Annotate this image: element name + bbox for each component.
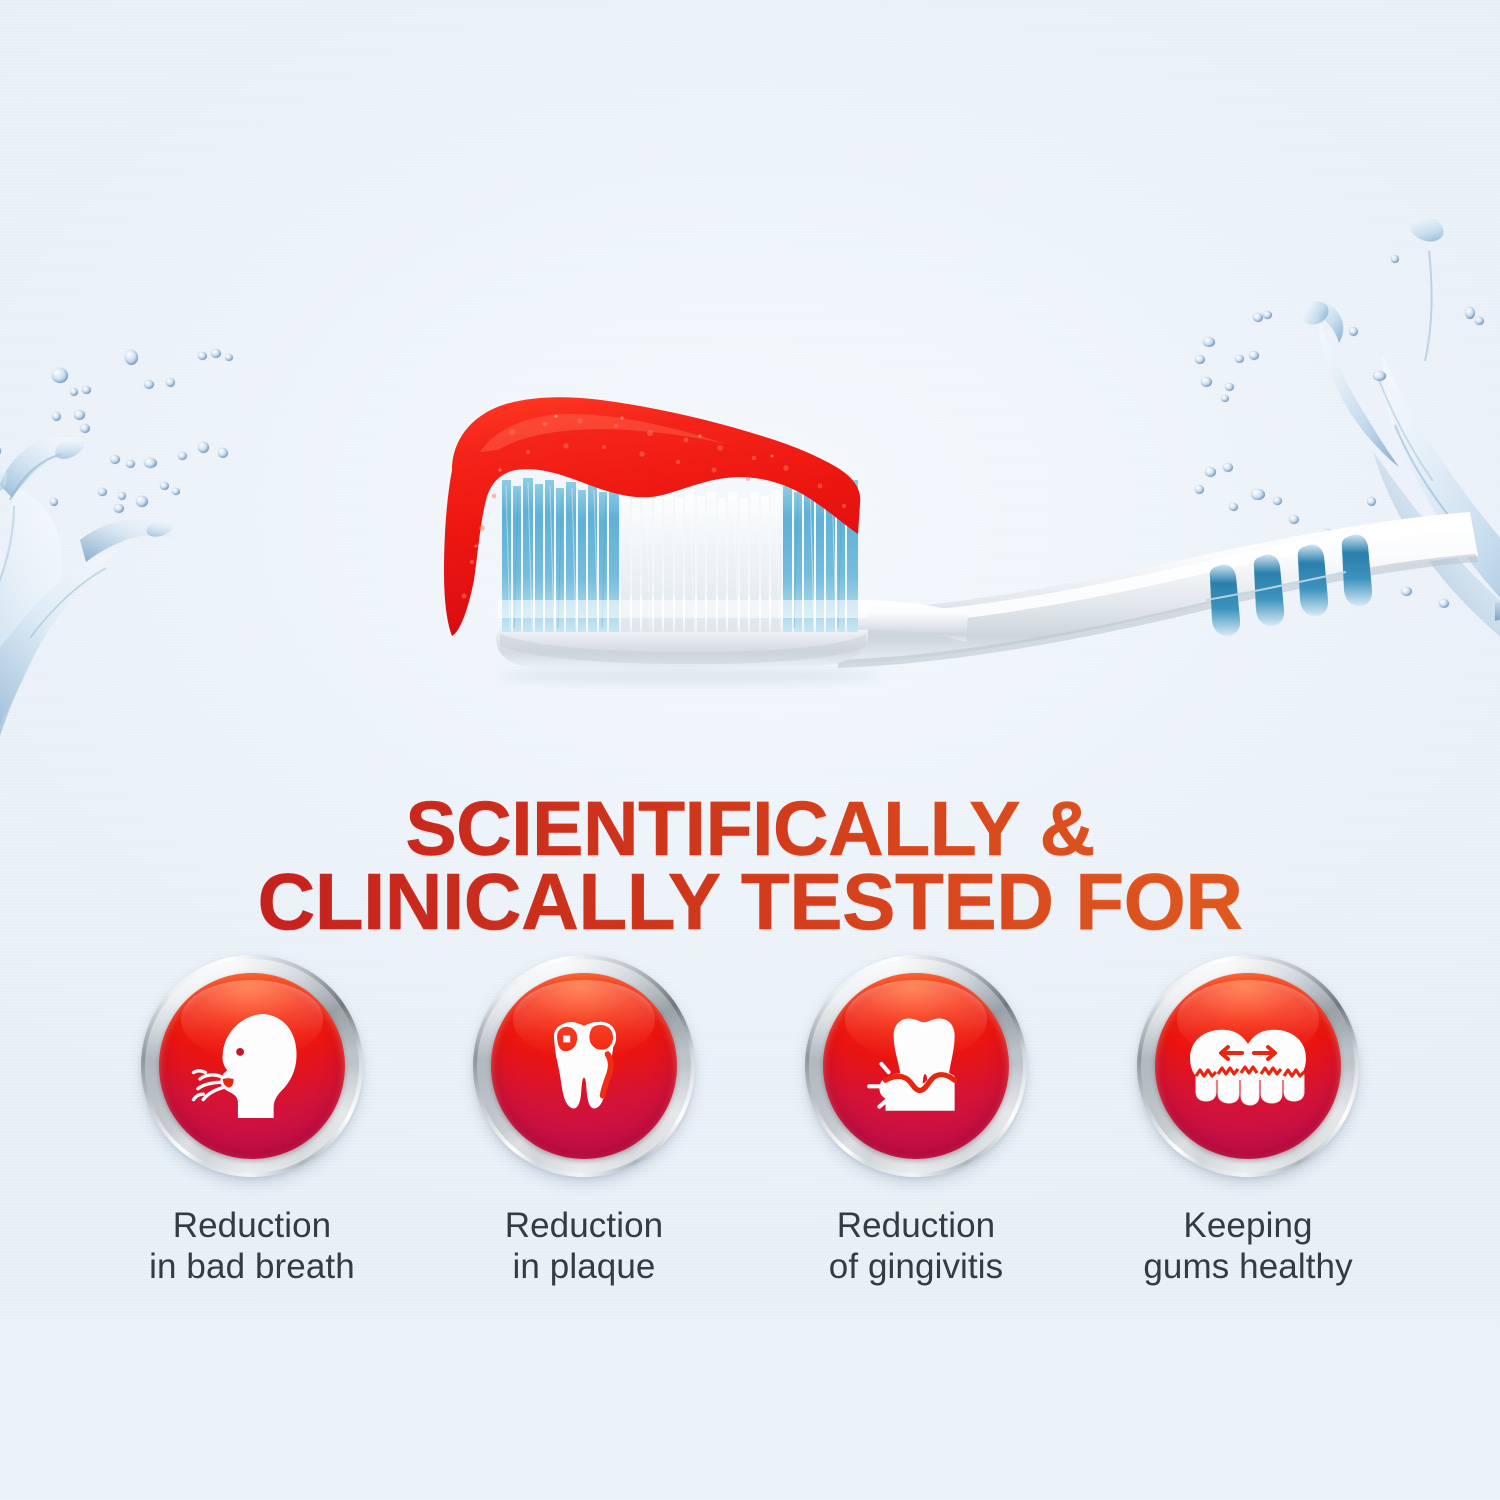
benefit-badge [805,955,1027,1177]
page-headline: SCIENTIFICALLY & CLINICALLY TESTED FOR [0,794,1500,940]
benefits-list: Reduction in bad breath [86,955,1414,1288]
healthy-gums-icon [1155,973,1341,1159]
benefit-item-plaque: Reduction in plaque [418,955,750,1288]
benefit-label: Reduction in plaque [505,1205,664,1288]
benefit-item-gingivitis: Reduction of gingivitis [750,955,1082,1288]
benefit-badge [1137,955,1359,1177]
benefit-label: Keeping gums healthy [1143,1205,1352,1288]
plaque-tooth-icon [491,973,677,1159]
benefit-item-bad-breath: Reduction in bad breath [86,955,418,1288]
benefit-label: Reduction in bad breath [149,1205,355,1288]
headline-line-2: CLINICALLY TESTED FOR [0,865,1500,939]
bad-breath-head-icon [159,973,345,1159]
benefit-label: Reduction of gingivitis [829,1205,1003,1288]
benefit-badge [141,955,363,1177]
product-infographic: SCIENTIFICALLY & CLINICALLY TESTED FOR [0,0,1500,1500]
benefit-badge [473,955,695,1177]
headline-line-1: SCIENTIFICALLY & [0,794,1500,866]
benefit-item-healthy-gums: Keeping gums healthy [1082,955,1414,1288]
gingivitis-gum-icon [823,973,1009,1159]
